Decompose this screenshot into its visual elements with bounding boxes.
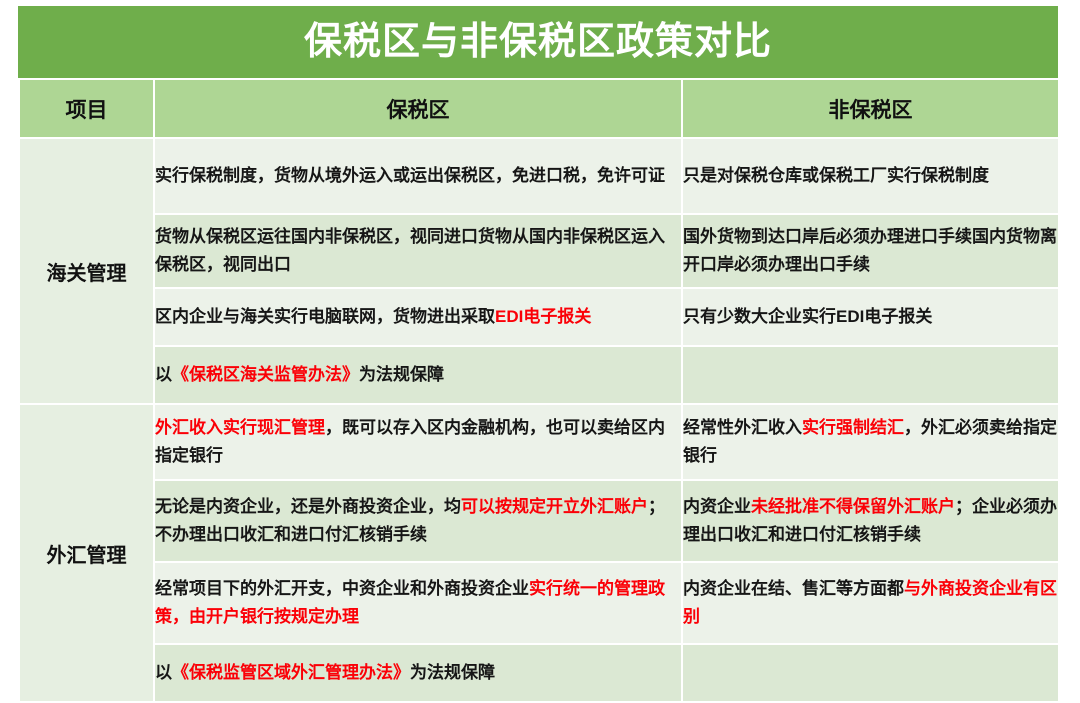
table-row: 经常项目下的外汇开支，中资企业和外商投资企业实行统一的管理政策，由开户银行按规定… <box>19 562 1059 644</box>
column-header-bonded: 保税区 <box>154 79 682 138</box>
table-row: 货物从保税区运往国内非保税区，视同进口货物从国内非保税区运入保税区，视同出口国外… <box>19 214 1059 288</box>
comparison-table: 项目 保税区 非保税区 海关管理实行保税制度，货物从境外运入或运出保税区，免进口… <box>18 78 1060 703</box>
cell-nonbonded <box>682 644 1059 702</box>
row-label-1: 外汇管理 <box>19 404 154 702</box>
text-segment: 《保税区海关监管办法》 <box>172 365 359 384</box>
column-header-item: 项目 <box>19 79 154 138</box>
table-row: 以《保税区海关监管办法》为法规保障 <box>19 346 1059 404</box>
cell-bonded: 以《保税区海关监管办法》为法规保障 <box>154 346 682 404</box>
page-title-bar: 保税区与非保税区政策对比 <box>18 6 1058 78</box>
table-row: 区内企业与海关实行电脑联网，货物进出采取EDI电子报关只有少数大企业实行EDI电… <box>19 288 1059 346</box>
text-segment: 为法规保障 <box>359 365 444 384</box>
cell-bonded: 货物从保税区运往国内非保税区，视同进口货物从国内非保税区运入保税区，视同出口 <box>154 214 682 288</box>
text-segment: 实行保税制度，货物从境外运入或运出保税区，免进口税，免许可证 <box>155 166 665 185</box>
text-segment: 可以按规定开立外汇账户 <box>461 497 648 516</box>
cell-bonded: 无论是内资企业，还是外商投资企业，均可以按规定开立外汇账户；不办理出口收汇和进口… <box>154 480 682 562</box>
page-title: 保税区与非保税区政策对比 <box>304 23 772 61</box>
text-segment: 区内企业与海关实行电脑联网，货物进出采取 <box>155 307 495 326</box>
text-segment: 实行强制结汇 <box>802 418 904 437</box>
cell-nonbonded: 内资企业未经批准不得保留外汇账户；企业必须办理出口收汇和进口付汇核销手续 <box>682 480 1059 562</box>
cell-bonded: 以《保税监管区域外汇管理办法》为法规保障 <box>154 644 682 702</box>
text-segment: 外汇收入实行现汇管理 <box>155 418 325 437</box>
cell-nonbonded: 只是对保税仓库或保税工厂实行保税制度 <box>682 138 1059 214</box>
cell-bonded: 区内企业与海关实行电脑联网，货物进出采取EDI电子报关 <box>154 288 682 346</box>
text-segment: 以 <box>155 365 172 384</box>
text-segment: EDI电子报关 <box>495 307 591 326</box>
column-header-nonbonded: 非保税区 <box>682 79 1059 138</box>
table-row: 外汇管理外汇收入实行现汇管理，既可以存入区内金融机构，也可以卖给区内指定银行经常… <box>19 404 1059 480</box>
cell-nonbonded: 只有少数大企业实行EDI电子报关 <box>682 288 1059 346</box>
table-row: 海关管理实行保税制度，货物从境外运入或运出保税区，免进口税，免许可证只是对保税仓… <box>19 138 1059 214</box>
text-segment: 内资企业在结、售汇等方面都 <box>683 579 904 598</box>
text-segment: 无论是内资企业，还是外商投资企业，均 <box>155 497 461 516</box>
text-segment: 经常项目下的外汇开支，中资企业和外商投资企业 <box>155 579 529 598</box>
cell-bonded: 经常项目下的外汇开支，中资企业和外商投资企业实行统一的管理政策，由开户银行按规定… <box>154 562 682 644</box>
cell-nonbonded: 内资企业在结、售汇等方面都与外商投资企业有区别 <box>682 562 1059 644</box>
table-body: 海关管理实行保税制度，货物从境外运入或运出保税区，免进口税，免许可证只是对保税仓… <box>19 138 1059 702</box>
cell-nonbonded <box>682 346 1059 404</box>
table-row: 无论是内资企业，还是外商投资企业，均可以按规定开立外汇账户；不办理出口收汇和进口… <box>19 480 1059 562</box>
text-segment: 只有少数大企业实行EDI电子报关 <box>683 307 932 326</box>
text-segment: 只是对保税仓库或保税工厂实行保税制度 <box>683 166 989 185</box>
text-segment: 经常性外汇收入 <box>683 418 802 437</box>
text-segment: 以 <box>155 663 172 682</box>
text-segment: 未经批准不得保留外汇账户 <box>751 497 955 516</box>
comparison-sheet: EASY BIZ 易企商务 保税区与非保税区政策对比 项目 保税区 非保税区 海… <box>18 6 1058 692</box>
text-segment: 内资企业 <box>683 497 751 516</box>
table-header-row: 项目 保税区 非保税区 <box>19 79 1059 138</box>
text-segment: 国外货物到达口岸后必须办理进口手续 <box>683 227 972 246</box>
text-segment: 货物从保税区运往国内非保税区，视同进口 <box>155 227 478 246</box>
cell-nonbonded: 经常性外汇收入实行强制结汇，外汇必须卖给指定银行 <box>682 404 1059 480</box>
text-segment: 《保税监管区域外汇管理办法》 <box>172 663 410 682</box>
text-segment: 为法规保障 <box>410 663 495 682</box>
cell-bonded: 实行保税制度，货物从境外运入或运出保税区，免进口税，免许可证 <box>154 138 682 214</box>
table-row: 以《保税监管区域外汇管理办法》为法规保障 <box>19 644 1059 702</box>
row-label-0: 海关管理 <box>19 138 154 404</box>
cell-bonded: 外汇收入实行现汇管理，既可以存入区内金融机构，也可以卖给区内指定银行 <box>154 404 682 480</box>
cell-nonbonded: 国外货物到达口岸后必须办理进口手续国内货物离开口岸必须办理出口手续 <box>682 214 1059 288</box>
